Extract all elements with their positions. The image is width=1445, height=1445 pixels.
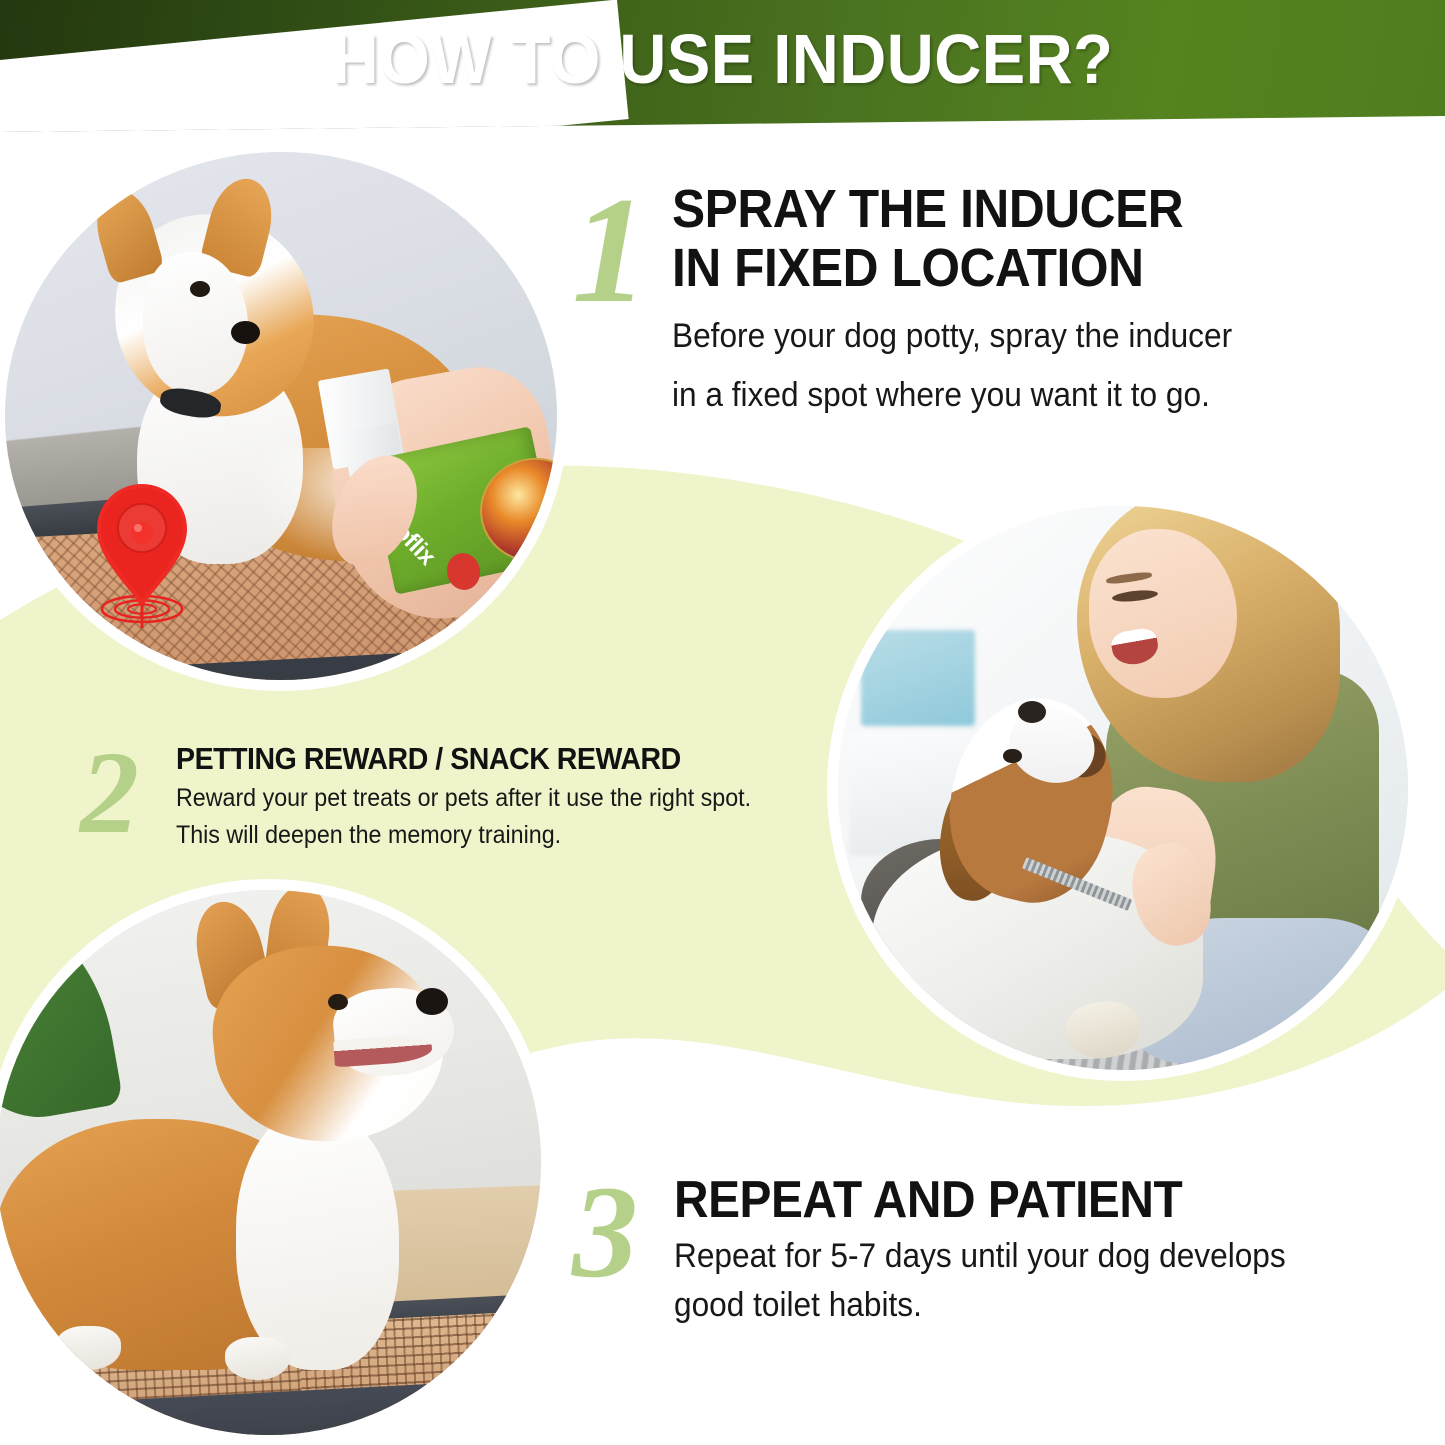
photo2-dog-eye [1003,749,1021,764]
photo1-dog-nose [231,321,260,344]
photo1-dog-face [143,252,248,395]
step-2-title-line1: PETTING REWARD / SNACK REWARD [176,742,794,777]
step-3-title-line1: REPEAT AND PATIENT [674,1172,1360,1229]
infographic-page: HOW TO USE INDUCER? fidoflix [0,0,1445,1445]
step-1: 1 SPRAY THE INDUCER IN FIXED LOCATION Be… [580,180,1400,418]
step-1-title-line1: SPRAY THE INDUCER [672,180,1342,239]
photo-corgi-tray [0,890,541,1435]
step-2: 2 PETTING REWARD / SNACK REWARD Reward y… [88,742,848,852]
photo3-dog-chest [236,1108,400,1370]
photo1-dog-eye [190,281,210,297]
location-pin-icon [86,478,198,630]
step-2-body-line1: Reward your pet treats or pets after it … [176,782,801,815]
step-1-body-line1: Before your dog potty, spray the inducer [672,315,1349,359]
step-1-number: 1 [572,174,648,326]
photo2-shelf-blue [861,630,975,726]
photo-woman-beagle [838,506,1408,1070]
step-1-title-line2: IN FIXED LOCATION [672,239,1342,298]
step-3: 3 REPEAT AND PATIENT Repeat for 5-7 days… [580,1172,1420,1327]
step-3-content: REPEAT AND PATIENT Repeat for 5-7 days u… [674,1172,1420,1327]
step-1-body-line2: in a fixed spot where you want it to go. [672,374,1349,418]
step-2-content: PETTING REWARD / SNACK REWARD Reward you… [176,742,848,852]
photo3-dog-eye [328,994,348,1010]
page-title: HOW TO USE INDUCER? [51,0,1395,118]
photo3-dog-paw-left [56,1326,121,1370]
photo2-dog-nose [1018,701,1047,724]
step-3-body-line2: good toilet habits. [674,1284,1368,1327]
step-3-body-line1: Repeat for 5-7 days until your dog devel… [674,1235,1368,1278]
step-1-content: SPRAY THE INDUCER IN FIXED LOCATION Befo… [672,180,1400,418]
step-2-body-line2: This will deepen the memory training. [176,819,801,852]
step-3-number: 3 [572,1166,638,1298]
step-2-number: 2 [80,734,139,852]
